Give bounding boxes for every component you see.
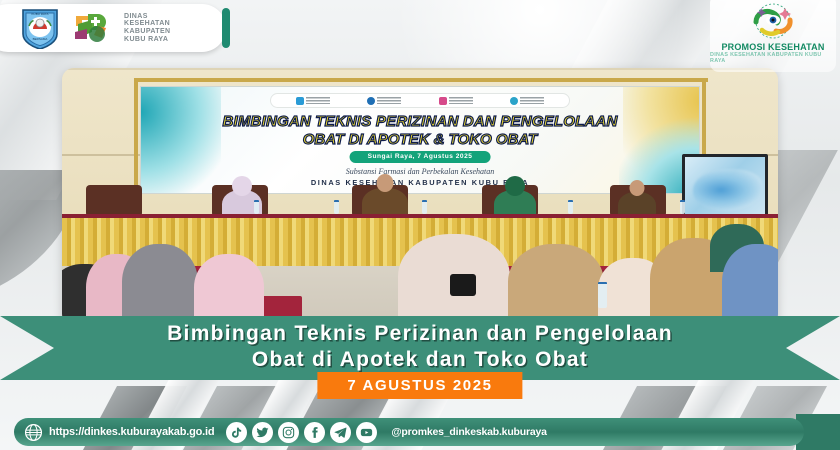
audience-member — [508, 244, 604, 326]
ribbon-title-line1: Bimbingan Teknis Perizinan dan Pengelola… — [167, 322, 673, 345]
social-icons — [226, 422, 377, 443]
kubu-raya-regency-crest-icon: KUBU RAYA BERSAMA — [20, 7, 60, 49]
event-title-ribbon: Bimbingan Teknis Perizinan dan Pengelola… — [0, 316, 840, 380]
event-photo: BIMBINGAN TEKNIS PERIZINAN DAN PENGELOLA… — [62, 68, 778, 326]
ribbon-title-line2: Obat di Apotek dan Toko Obat — [252, 348, 588, 371]
website-url[interactable]: https://dinkes.kuburayakab.go.id — [49, 426, 214, 438]
audience-member — [122, 244, 198, 326]
tiktok-icon[interactable] — [226, 422, 247, 443]
promosi-kesehatan-badge: PROMOSI KESEHATAN DINAS KESEHATAN KABUPA… — [710, 0, 836, 72]
audience-member — [722, 244, 778, 326]
banner-title-line2: OBAT DI APOTEK & TOKO OBAT — [141, 131, 699, 148]
twitter-icon[interactable] — [252, 422, 273, 443]
banner-title-line1: BIMBINGAN TEKNIS PERIZINAN DAN PENGELOLA… — [141, 113, 699, 130]
facebook-icon[interactable] — [304, 422, 325, 443]
globe-www-icon — [24, 423, 43, 442]
footer-contact-bar: https://dinkes.kuburayakab.go.id @promke… — [14, 418, 804, 446]
projector-screen — [682, 154, 768, 222]
organization-logo-bar: KUBU RAYA BERSAMA DINAS KESEHATAN KABUPA… — [0, 4, 226, 52]
stage-backdrop-banner: BIMBINGAN TEKNIS PERIZINAN DAN PENGELOLA… — [140, 86, 700, 194]
event-date-badge: 7 AGUSTUS 2025 — [317, 372, 522, 399]
dinas-kesehatan-logo-icon — [70, 8, 114, 48]
dinkes-wordmark: DINAS KESEHATAN KABUPATEN KUBU RAYA — [124, 13, 171, 43]
youtube-icon[interactable] — [356, 422, 377, 443]
banner-date-pill: Sungai Raya, 7 Agustus 2025 — [350, 151, 491, 163]
promkes-title: PROMOSI KESEHATAN — [721, 42, 824, 52]
telegram-icon[interactable] — [330, 422, 351, 443]
banner-subtitle-script: Substansi Farmasi dan Perbekalan Kesehat… — [141, 167, 699, 176]
laptop-bag — [450, 274, 476, 296]
svg-text:BERSAMA: BERSAMA — [33, 37, 48, 41]
promosi-kesehatan-swirl-icon — [742, 2, 804, 42]
promkes-subtitle: DINAS KESEHATAN KABUPATEN KUBU RAYA — [710, 52, 836, 64]
instagram-icon[interactable] — [278, 422, 299, 443]
svg-text:KUBU RAYA: KUBU RAYA — [32, 12, 49, 16]
banner-partner-logos — [270, 93, 570, 108]
poster-canvas: KUBU RAYA BERSAMA DINAS KESEHATAN KABUPA… — [0, 0, 840, 450]
social-handle[interactable]: @promkes_dinkeskab.kuburaya — [391, 426, 546, 438]
